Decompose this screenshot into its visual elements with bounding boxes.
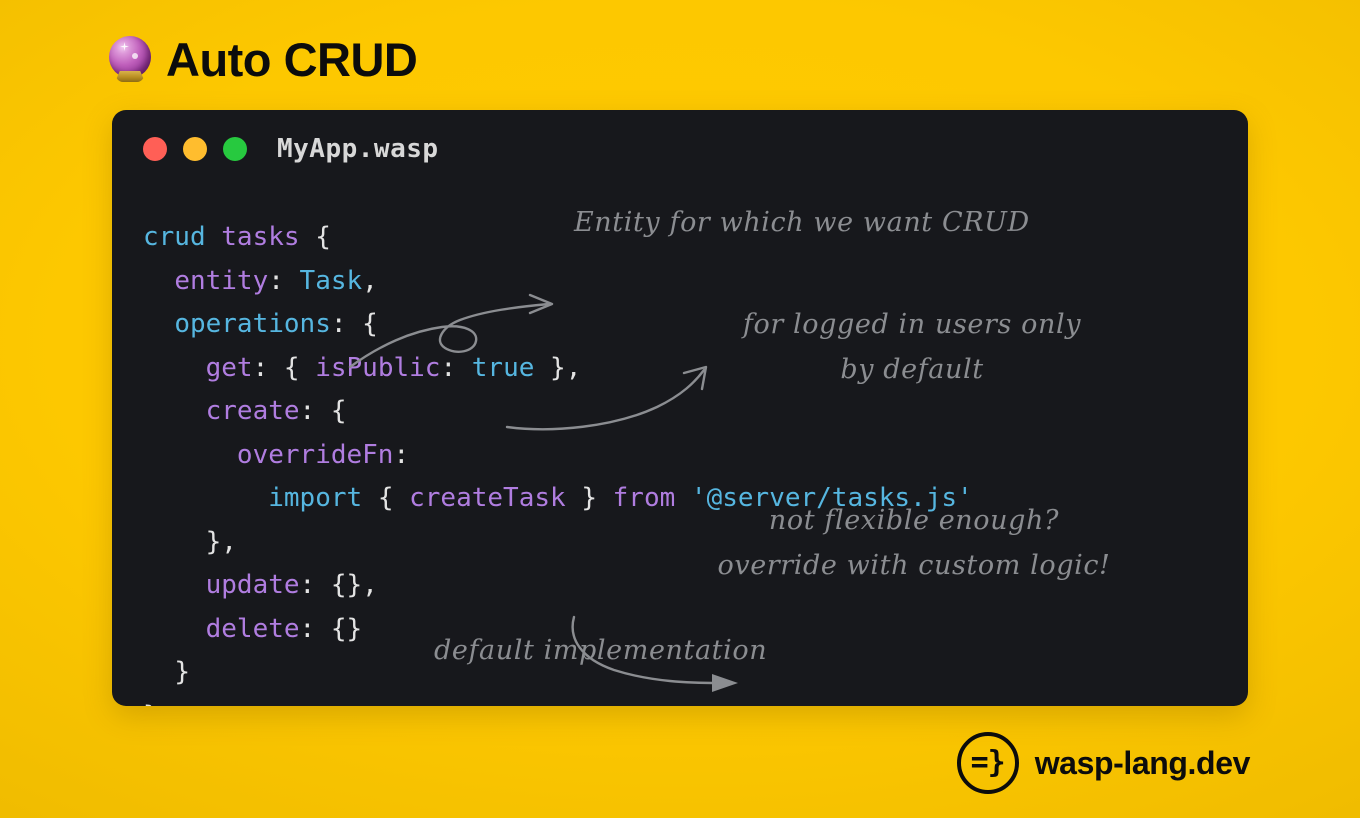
entity-annotation: Entity for which we want CRUD [574, 200, 1030, 245]
page-header: Auto CRUD [108, 22, 417, 96]
auth-annotation-line-2: by default [722, 347, 1102, 392]
wasp-logo-icon: =} [957, 732, 1019, 794]
window-titlebar: MyApp.wasp [112, 110, 1248, 188]
footer-url: wasp-lang.dev [1035, 745, 1250, 782]
auth-annotation-line-1: for logged in users only [722, 302, 1102, 347]
auth-annotation: for logged in users only by default [722, 302, 1102, 392]
override-annotation-line-2: override with custom logic! [702, 543, 1126, 588]
override-annotation-line-1: not flexible enough? [702, 498, 1126, 543]
crystal-ball-stand [115, 71, 145, 82]
window-minimize-button[interactable] [183, 137, 207, 161]
crystal-ball-sparkle-small [132, 53, 138, 59]
window-filename: MyApp.wasp [277, 134, 439, 164]
window-maximize-button[interactable] [223, 137, 247, 161]
crystal-ball-icon [108, 36, 152, 82]
page-title: Auto CRUD [166, 36, 417, 83]
override-annotation: not flexible enough? override with custo… [702, 498, 1126, 588]
default-annotation: default implementation [434, 628, 767, 673]
footer-branding[interactable]: =} wasp-lang.dev [957, 732, 1250, 794]
window-close-button[interactable] [143, 137, 167, 161]
